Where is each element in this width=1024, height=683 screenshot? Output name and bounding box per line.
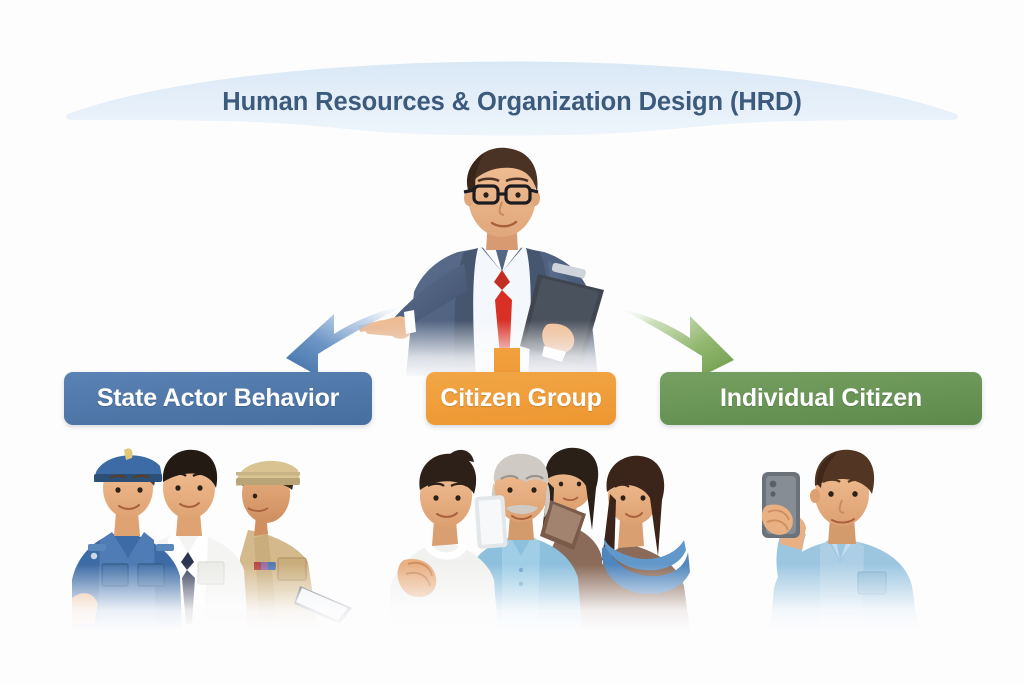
citizen-group-illustration [390,438,702,630]
diagram-canvas: Human Resources & Organization Design (H… [0,0,1024,683]
category-label-citizen-group: Citizen Group [440,384,601,413]
title-banner: Human Resources & Organization Design (H… [0,28,1024,143]
arrow-to-state-actor-icon [278,300,410,378]
category-label-state-actor-behavior: State Actor Behavior [97,384,339,413]
category-label-individual-citizen: Individual Citizen [720,384,922,413]
smartphone-icon-group [474,495,508,549]
banner-shape [0,28,1024,143]
people-group-citizens [390,438,702,630]
state-actors-illustration [72,438,366,630]
category-box-state-actor-behavior[interactable]: State Actor Behavior [64,372,372,425]
arrow-to-individual-citizen-icon [616,302,736,378]
page-title: Human Resources & Organization Design (H… [0,88,1024,117]
category-box-individual-citizen[interactable]: Individual Citizen [660,372,982,425]
category-box-citizen-group[interactable]: Citizen Group [426,372,616,425]
people-group-individual-citizen [722,438,950,630]
individual-citizen-illustration [722,438,950,630]
people-group-state-actors [72,438,366,630]
